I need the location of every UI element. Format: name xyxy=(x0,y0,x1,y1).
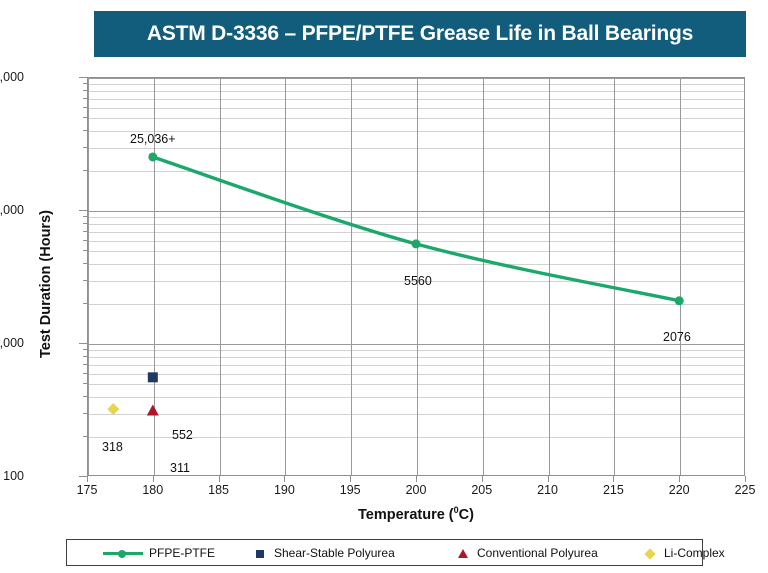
square-icon xyxy=(252,546,268,560)
legend-square-swatch xyxy=(256,550,264,558)
x-tick-major xyxy=(482,476,483,482)
x-tick-major xyxy=(548,476,549,482)
x-tick-major xyxy=(350,476,351,482)
y-tick-major xyxy=(79,210,87,211)
x-tick-label: 220 xyxy=(649,483,709,497)
chart-title: ASTM D-3336 – PFPE/PTFE Grease Life in B… xyxy=(147,22,693,46)
chart-title-banner: ASTM D-3336 – PFPE/PTFE Grease Life in B… xyxy=(94,11,746,57)
x-tick-major xyxy=(153,476,154,482)
data-point-label: 5560 xyxy=(404,274,432,288)
x-tick-label: 205 xyxy=(452,483,512,497)
x-tick-label: 190 xyxy=(254,483,314,497)
y-axis-title: Test Duration (Hours) xyxy=(38,154,54,414)
x-tick-major xyxy=(613,476,614,482)
data-point-pfpe-ptfe[interactable] xyxy=(675,296,684,305)
legend-item-pfpe-ptfe[interactable]: PFPE-PTFE xyxy=(103,546,215,560)
legend-item-shear-stable-polyurea[interactable]: Shear-Stable Polyurea xyxy=(252,546,395,560)
data-point-li-complex[interactable] xyxy=(107,403,119,415)
x-tick-major xyxy=(87,476,88,482)
y-tick-major xyxy=(79,343,87,344)
x-tick-major xyxy=(284,476,285,482)
data-point-label: 318 xyxy=(102,440,123,454)
legend-item-label: Shear-Stable Polyurea xyxy=(274,546,395,560)
legend-diamond-swatch xyxy=(644,548,655,559)
data-point-shear-stable-polyurea[interactable] xyxy=(148,372,158,382)
line-circle-icon xyxy=(103,546,143,560)
y-tick-label: 100 xyxy=(0,469,24,483)
y-tick-label: 1,000 xyxy=(0,336,24,350)
data-point-label: 2076 xyxy=(663,330,691,344)
x-tick-major xyxy=(745,476,746,482)
x-tick-label: 200 xyxy=(386,483,446,497)
legend-item-label: Li-Complex xyxy=(664,546,725,560)
diamond-icon xyxy=(642,546,658,560)
legend-item-label: Conventional Polyurea xyxy=(477,546,598,560)
legend-triangle-swatch xyxy=(458,549,468,558)
x-tick-label: 195 xyxy=(320,483,380,497)
y-tick-major xyxy=(79,77,87,78)
y-tick-major xyxy=(79,476,87,477)
chart-legend: PFPE-PTFEShear-Stable PolyureaConvention… xyxy=(66,539,703,566)
x-axis-title-prefix: Temperature ( xyxy=(358,507,454,523)
x-tick-major xyxy=(679,476,680,482)
y-tick-label: 10,000 xyxy=(0,203,24,217)
x-tick-label: 185 xyxy=(189,483,249,497)
data-point-label: 25,036+ xyxy=(130,132,176,146)
chart-canvas: 1001,00010,000100,000 175180185190195200… xyxy=(0,60,768,530)
data-point-pfpe-ptfe[interactable] xyxy=(148,152,157,161)
legend-item-label: PFPE-PTFE xyxy=(149,546,215,560)
x-tick-label: 175 xyxy=(57,483,117,497)
x-axis-title-suffix: C) xyxy=(459,507,474,523)
x-tick-label: 180 xyxy=(123,483,183,497)
x-tick-major xyxy=(219,476,220,482)
y-tick-label: 100,000 xyxy=(0,70,24,84)
x-tick-label: 215 xyxy=(583,483,643,497)
legend-circle-swatch xyxy=(118,550,126,558)
legend-item-conventional-polyurea[interactable]: Conventional Polyurea xyxy=(455,546,598,560)
data-point-pfpe-ptfe[interactable] xyxy=(412,239,421,248)
x-tick-label: 210 xyxy=(518,483,578,497)
x-tick-major xyxy=(416,476,417,482)
data-point-label: 552 xyxy=(172,428,193,442)
legend-item-li-complex[interactable]: Li-Complex xyxy=(642,546,725,560)
data-point-conventional-polyurea[interactable] xyxy=(147,404,159,415)
data-point-label: 311 xyxy=(170,461,190,475)
x-tick-label: 225 xyxy=(715,483,768,497)
triangle-icon xyxy=(455,546,471,560)
x-axis-title: Temperature (0C) xyxy=(87,505,745,523)
